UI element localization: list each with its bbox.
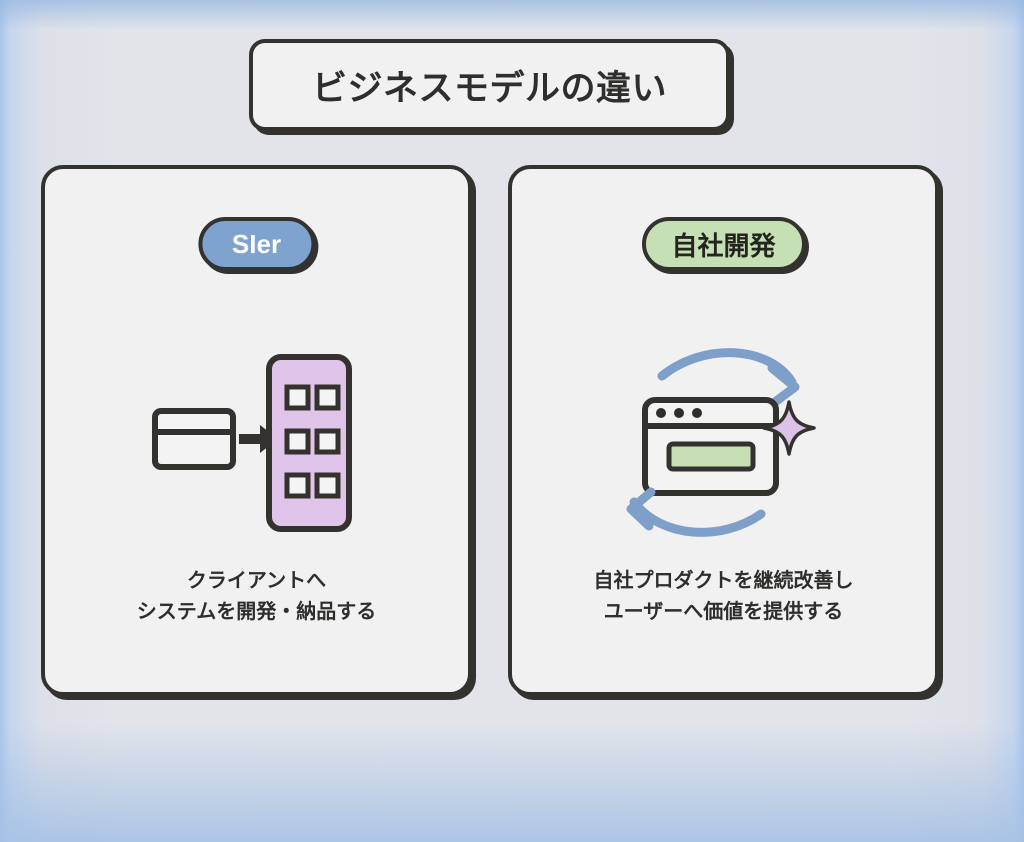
inhouse-caption-line-2: ユーザーへ価値を提供する bbox=[512, 597, 935, 628]
browser-dot-1 bbox=[656, 408, 666, 418]
refresh-arc-bottom-icon bbox=[631, 492, 761, 532]
badge-sier: SIer bbox=[198, 217, 315, 271]
slide-canvas: ビジネスモデルの違い SIer bbox=[0, 0, 1024, 842]
card-inhouse[interactable]: 自社開発 bbox=[508, 165, 939, 696]
sier-icon-area bbox=[45, 339, 468, 549]
browser-window-icon bbox=[645, 400, 776, 493]
building-icon bbox=[269, 357, 349, 529]
sier-caption-line-2: システムを開発・納品する bbox=[45, 597, 468, 628]
product-continuous-improvement-icon bbox=[609, 344, 839, 544]
page-title-box: ビジネスモデルの違い bbox=[249, 39, 730, 131]
sier-caption: クライアントへ システムを開発・納品する bbox=[45, 566, 468, 628]
card-sier[interactable]: SIer bbox=[41, 165, 472, 696]
content-bar bbox=[669, 444, 753, 469]
handoff-to-client-building-icon bbox=[147, 349, 367, 539]
badge-inhouse: 自社開発 bbox=[641, 217, 805, 271]
inhouse-caption-line-1: 自社プロダクトを継続改善し bbox=[512, 566, 935, 597]
browser-dot-2 bbox=[674, 408, 684, 418]
refresh-arc-top-icon bbox=[662, 353, 795, 402]
inhouse-icon-area bbox=[512, 339, 935, 549]
browser-dot-3 bbox=[692, 408, 702, 418]
page-title: ビジネスモデルの違い bbox=[312, 60, 667, 111]
document-card-icon bbox=[155, 411, 233, 467]
inhouse-caption: 自社プロダクトを継続改善し ユーザーへ価値を提供する bbox=[512, 566, 935, 628]
badge-inhouse-label: 自社開発 bbox=[671, 226, 775, 263]
badge-sier-label: SIer bbox=[232, 229, 281, 260]
sier-caption-line-1: クライアントへ bbox=[45, 566, 468, 597]
